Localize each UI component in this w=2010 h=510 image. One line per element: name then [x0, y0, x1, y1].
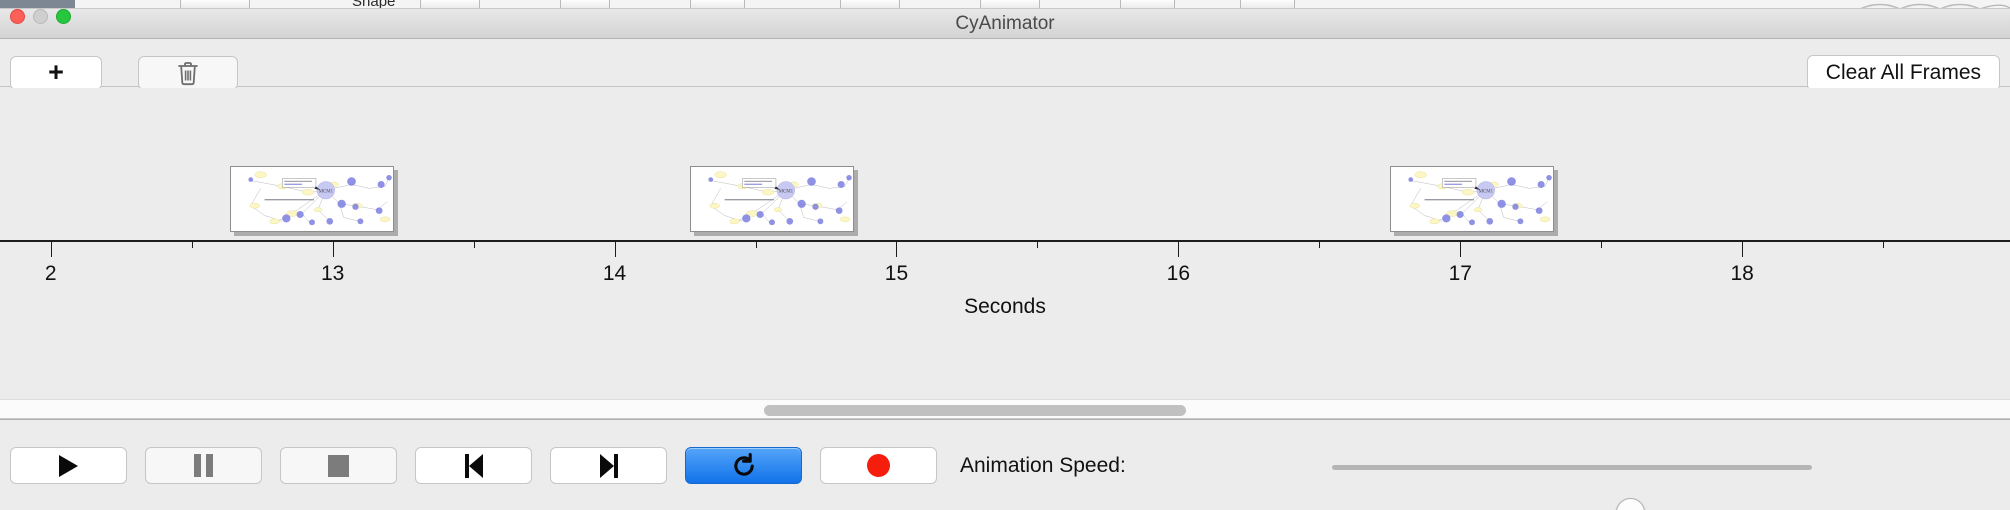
horizontal-scrollbar[interactable]	[0, 399, 2010, 419]
background-app-label: Shape	[352, 0, 395, 9]
background-segment	[560, 0, 610, 9]
axis-tick-major	[1460, 240, 1461, 257]
background-segment	[1240, 0, 1295, 9]
axis-tick-minor	[474, 240, 475, 248]
loop-icon	[731, 453, 757, 479]
play-button[interactable]	[10, 447, 127, 484]
trash-icon	[177, 61, 199, 86]
axis-title: Seconds	[0, 295, 2010, 319]
record-icon	[867, 454, 890, 477]
axis-tick-minor	[1601, 240, 1602, 248]
timeline-axis	[0, 240, 2010, 242]
frame-thumbnail[interactable]: MCM1	[1390, 166, 1554, 232]
frame-thumbnail[interactable]: MCM1	[230, 166, 394, 232]
axis-tick-major	[333, 240, 334, 257]
axis-tick-minor	[756, 240, 757, 248]
minimize-button[interactable]	[33, 9, 48, 24]
skip-previous-button[interactable]	[415, 447, 532, 484]
stop-button[interactable]	[280, 447, 397, 484]
loop-button[interactable]	[685, 447, 802, 484]
delete-frame-button[interactable]	[138, 56, 238, 90]
clear-all-frames-button[interactable]: Clear All Frames	[1807, 55, 2000, 91]
axis-tick-label: 15	[885, 262, 908, 286]
pause-button[interactable]	[145, 447, 262, 484]
record-button[interactable]	[820, 447, 937, 484]
maximize-button[interactable]	[56, 9, 71, 24]
add-frame-button[interactable]: +	[10, 56, 102, 90]
background-dark-tab	[0, 0, 75, 9]
background-segment	[980, 0, 1040, 9]
svg-text:MCM1: MCM1	[319, 190, 334, 195]
play-icon	[59, 455, 78, 477]
svg-text:MCM1: MCM1	[1479, 190, 1494, 195]
clear-all-frames-label: Clear All Frames	[1826, 61, 1981, 85]
background-segment	[1120, 0, 1175, 9]
axis-tick-minor	[1883, 240, 1884, 248]
axis-tick-major	[615, 240, 616, 257]
skip-next-button[interactable]	[550, 447, 667, 484]
svg-text:MCM1: MCM1	[779, 190, 794, 195]
cyanimator-window: Shape CyAnimator + Clear All Frames	[0, 0, 2010, 510]
plus-icon: +	[48, 59, 64, 86]
axis-tick-label: 14	[603, 262, 626, 286]
close-button[interactable]	[10, 9, 25, 24]
axis-tick-major	[1742, 240, 1743, 257]
scrollbar-thumb[interactable]	[764, 405, 1186, 416]
window-controls	[10, 9, 71, 24]
axis-tick-major	[51, 240, 52, 257]
axis-tick-label: 16	[1167, 262, 1190, 286]
background-segment	[420, 0, 480, 9]
background-segment	[690, 0, 745, 9]
frame-toolbar: + Clear All Frames	[0, 40, 2010, 87]
skip-next-icon	[600, 454, 618, 478]
window-title: CyAnimator	[0, 13, 2010, 35]
axis-tick-minor	[1319, 240, 1320, 248]
pause-icon	[194, 454, 213, 477]
background-segment	[180, 0, 250, 9]
frame-thumbnail[interactable]: MCM1	[690, 166, 854, 232]
playback-control-bar: Animation Speed:	[0, 419, 2010, 510]
axis-tick-minor	[1037, 240, 1038, 248]
animation-speed-slider-thumb[interactable]	[1616, 498, 1645, 510]
axis-tick-label: 17	[1449, 262, 1472, 286]
axis-tick-major	[896, 240, 897, 257]
axis-tick-label: 13	[321, 262, 344, 286]
animation-speed-label: Animation Speed:	[960, 454, 1126, 478]
title-bar[interactable]: CyAnimator	[0, 9, 2010, 39]
background-curve-decoration	[1860, 0, 2010, 9]
skip-previous-icon	[465, 454, 483, 478]
axis-tick-minor	[192, 240, 193, 248]
background-app-strip: Shape	[0, 0, 2010, 9]
axis-tick-major	[1178, 240, 1179, 257]
timeline-panel[interactable]: Seconds 2131415161718 MCM1MCM1MCM1	[0, 88, 2010, 419]
axis-tick-label: 18	[1731, 262, 1754, 286]
background-segment	[840, 0, 900, 9]
axis-tick-label: 2	[45, 262, 57, 286]
stop-icon	[328, 455, 349, 477]
animation-speed-slider[interactable]	[1332, 465, 1812, 470]
